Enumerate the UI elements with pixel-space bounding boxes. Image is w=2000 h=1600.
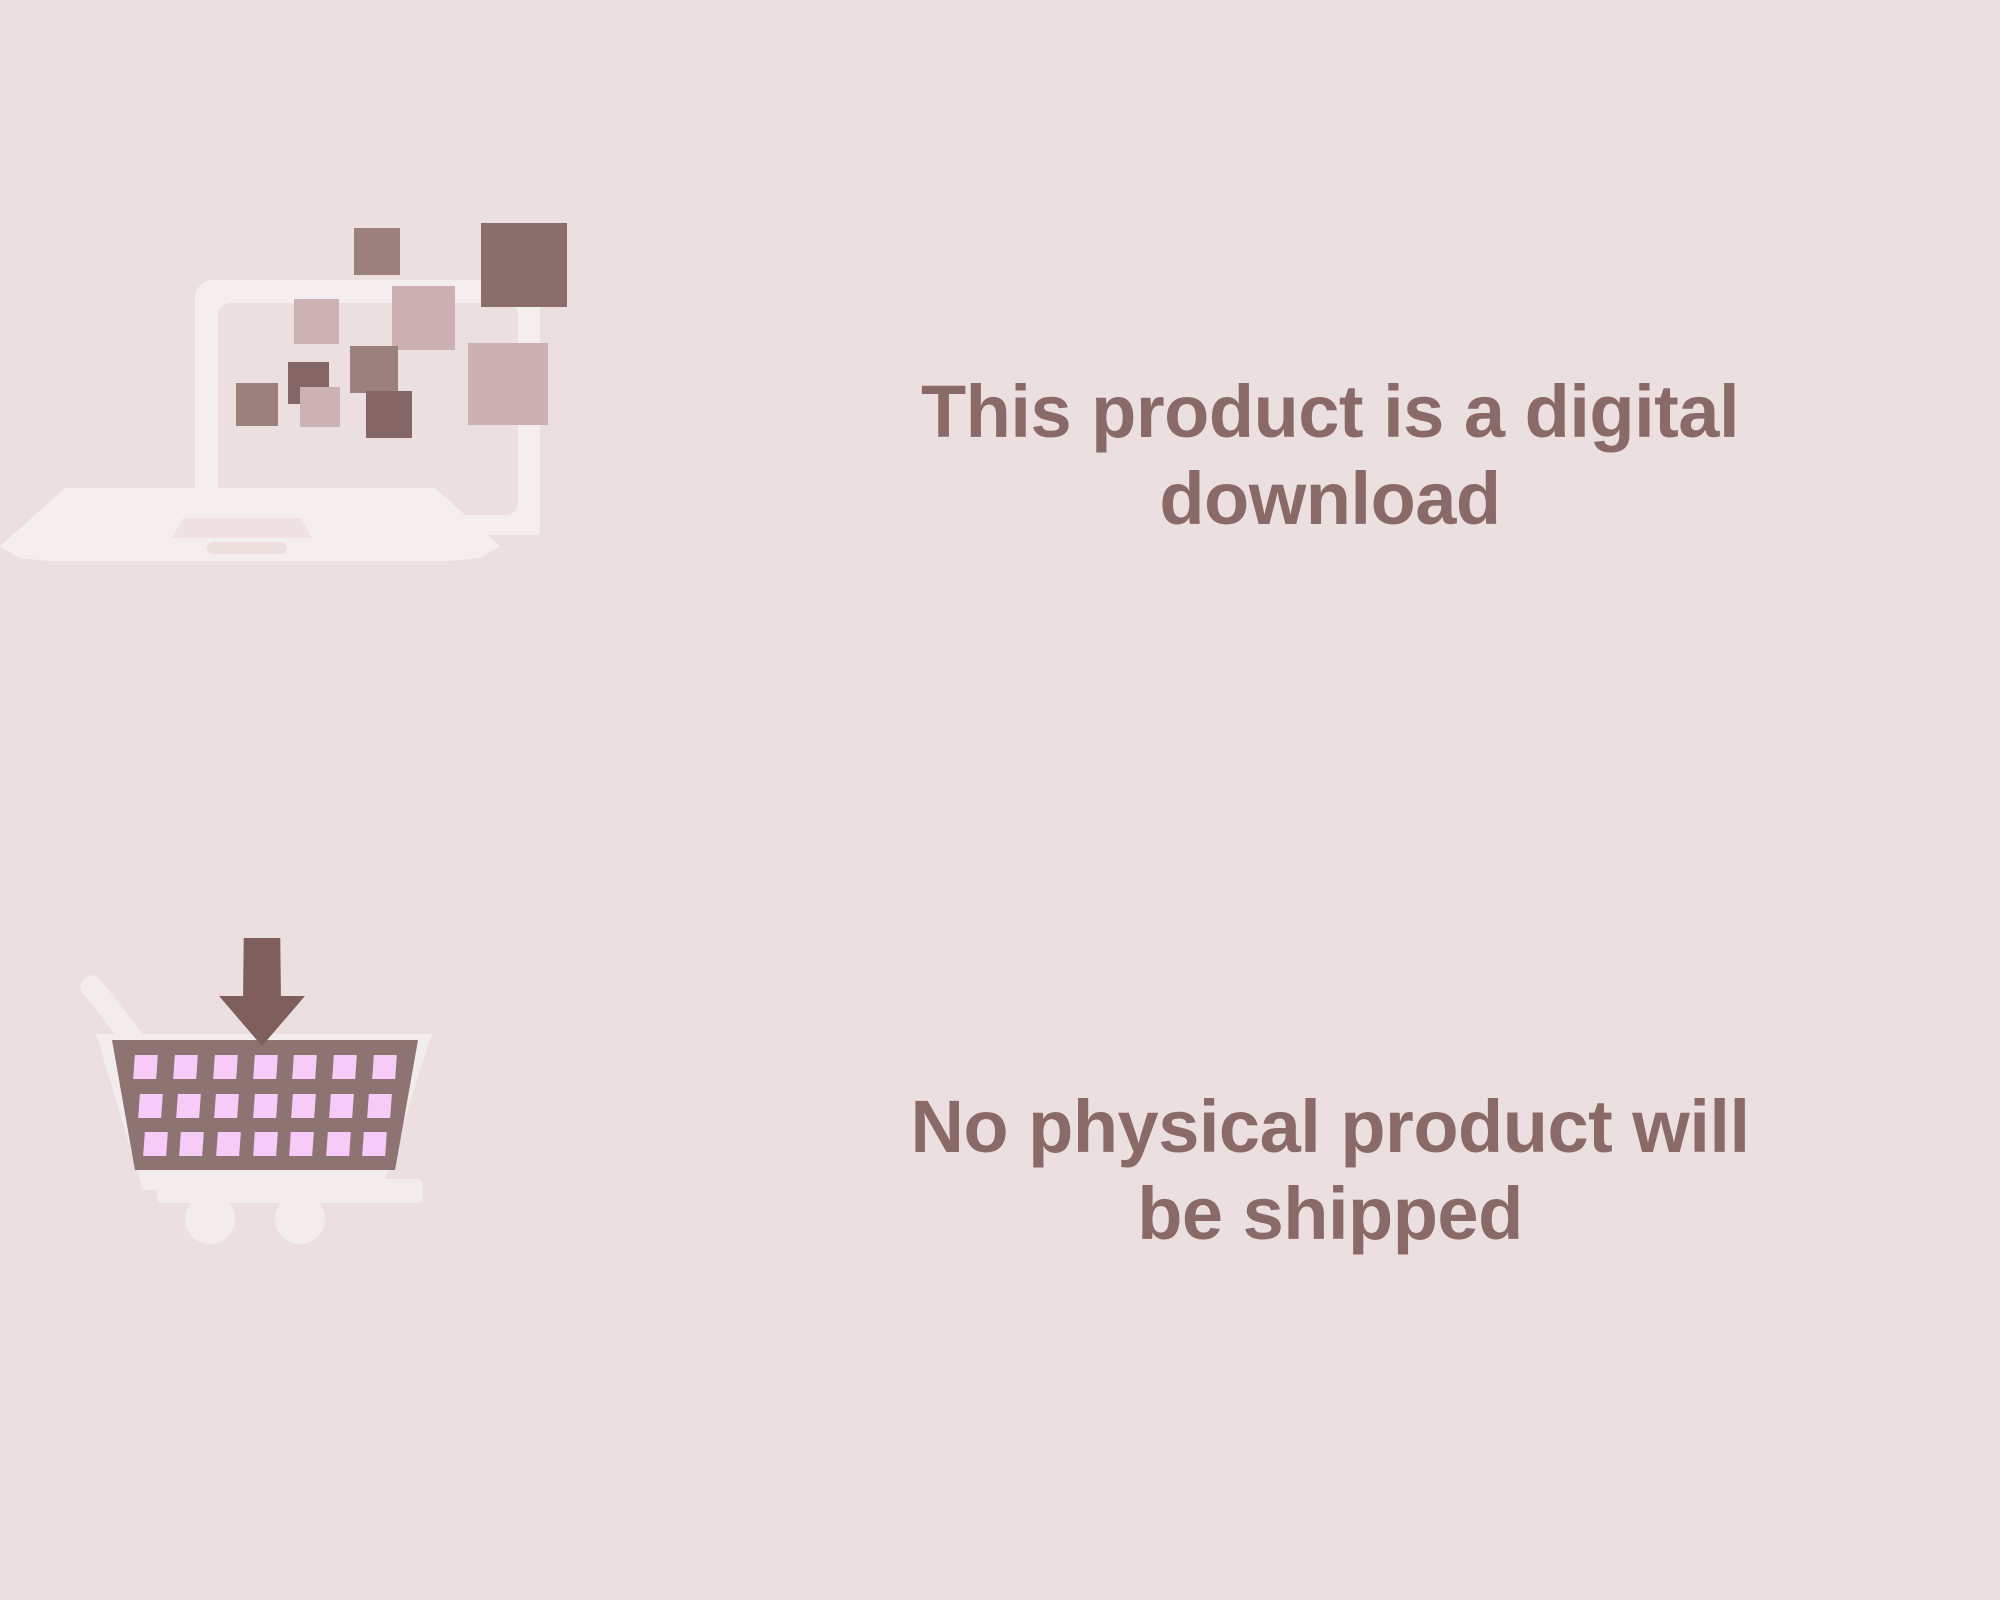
square-large-light [468,343,548,425]
cart-basket-cell [362,1132,387,1156]
laptop-trackpad [172,518,312,538]
cart-basket-cell [216,1132,241,1156]
cart-basket-cell [253,1094,278,1118]
shopping-cart-with-down-arrow-icon [0,930,790,1410]
cart-wheel-right [275,1194,325,1244]
square-medium-mid [354,228,400,275]
cart-basket-cell [143,1132,168,1156]
square-large-dark [481,223,567,307]
cart-basket-cell [173,1055,198,1079]
info-row-digital-download: This product is a digital download [0,215,2000,695]
cart-basket-cell [253,1132,278,1156]
info-row-no-shipping: No physical product will be shipped [0,930,2000,1410]
square-small-mid [236,383,278,426]
cart-basket-cell [176,1094,201,1118]
cart-basket-cell [213,1055,238,1079]
cart-basket-cell [180,1132,205,1156]
download-arrow-shaft [243,938,281,1000]
square-medium-light [392,286,455,350]
square-small-dark-2 [366,391,412,438]
caption-line-1: No physical product will [910,1085,1749,1168]
square-med-mid-2 [350,346,398,393]
cart-basket-cell [289,1132,314,1156]
cart-basket-cell [293,1055,318,1079]
infographic-canvas: This product is a digital download [0,0,2000,1600]
cart-basket-cell [367,1094,392,1118]
no-shipping-caption: No physical product will be shipped [790,1083,1870,1258]
cart-wheel-left [185,1194,235,1244]
cart-basket-cell [214,1094,239,1118]
laptop-front-notch [207,542,287,554]
cart-basket-grid [112,1040,418,1170]
cart-basket-cell [253,1055,278,1079]
square-small-light [294,299,339,344]
cart-basket-cell [329,1094,354,1118]
square-tiny-light [300,387,340,427]
caption-line-1: This product is a digital [921,370,1739,453]
cart-basket-cell [326,1132,351,1156]
caption-line-2: be shipped [1137,1172,1523,1255]
caption-line-2: download [1159,457,1500,540]
cart-basket-cell [133,1055,158,1079]
no-shipping-text-cell: No physical product will be shipped [790,1083,2000,1258]
cart-basket-cell [372,1055,397,1079]
laptop-with-files-icon [0,215,790,695]
cart-basket-cell [138,1094,163,1118]
cart-basket-cell [333,1055,358,1079]
laptop-icon-cell [0,215,790,695]
digital-download-caption: This product is a digital download [790,368,1870,543]
cart-icon-cell [0,930,790,1410]
digital-download-text-cell: This product is a digital download [790,368,2000,543]
cart-basket-cell [291,1094,316,1118]
